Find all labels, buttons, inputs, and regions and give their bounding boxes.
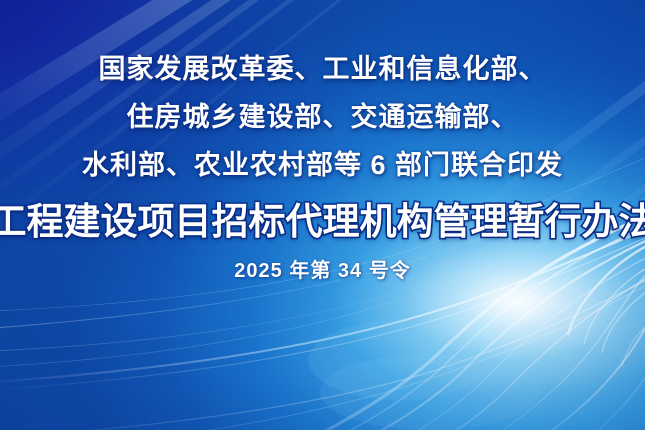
poster-content: 国家发展改革委、工业和信息化部、 住房城乡建设部、交通运输部、 水利部、农业农村… <box>0 0 645 430</box>
poster-banner: 国家发展改革委、工业和信息化部、 住房城乡建设部、交通运输部、 水利部、农业农村… <box>0 0 645 430</box>
document-number: 2025 年第 34 号令 <box>234 257 410 285</box>
document-title: 《工程建设项目招标代理机构管理暂行办法》 <box>0 199 645 245</box>
heading-line-1: 国家发展改革委、工业和信息化部、 <box>99 45 547 93</box>
heading-line-3: 水利部、农业农村部等 6 部门联合印发 <box>82 141 563 189</box>
heading-line-2: 住房城乡建设部、交通运输部、 <box>127 93 519 141</box>
